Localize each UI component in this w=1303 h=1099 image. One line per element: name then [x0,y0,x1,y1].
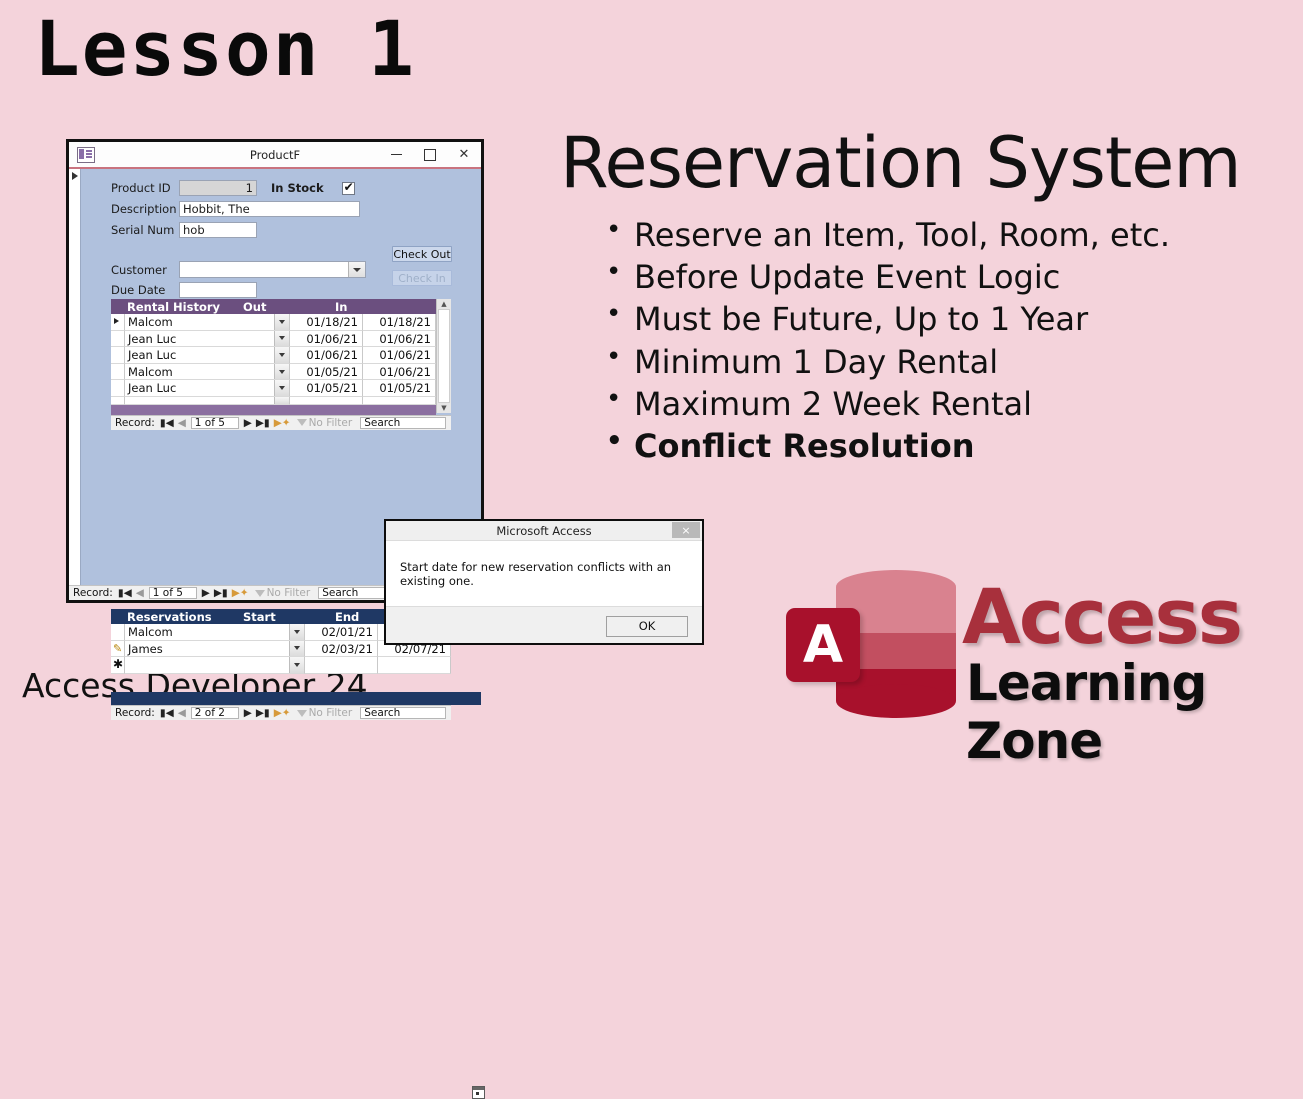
access-form-icon [77,147,95,163]
message-dialog: Microsoft Access × Start date for new re… [384,519,704,645]
reserver-name-cell [125,657,305,674]
start-date-cell[interactable]: 02/03/21 [305,641,378,658]
dialog-body: Start date for new reservation conflicts… [386,541,702,607]
dialog-title: Microsoft Access [496,524,591,538]
start-date-cell[interactable]: 02/01/21 [305,624,378,641]
list-item: Before Update Event Logic [606,256,1290,298]
minimize-icon[interactable] [379,142,413,167]
customer-label: Customer [111,263,179,277]
chevron-down-icon[interactable] [289,657,304,673]
row-selector[interactable] [111,624,125,641]
row-selector[interactable] [111,314,125,331]
serial-num-label: Serial Num [111,223,179,237]
out-date-cell[interactable]: 01/06/21 [290,347,363,364]
in-date-cell[interactable]: 01/06/21 [363,331,436,348]
scroll-down-icon[interactable]: ▼ [441,403,446,413]
access-learning-zone-logo: A Access Learning Zone [786,566,1286,726]
field-row-serial-num: Serial Num hob [111,222,257,238]
chevron-down-icon[interactable] [274,380,289,396]
field-row-due-date: Due Date [111,282,257,298]
cylinder-bottom [836,684,956,718]
out-date-cell[interactable]: 01/18/21 [290,314,363,331]
renter-name-cell: Malcom [125,364,290,381]
in-date-cell[interactable]: 01/06/21 [363,364,436,381]
nav-prev-icon[interactable]: ◀ [176,707,188,719]
start-date-cell[interactable] [305,657,378,674]
search-input[interactable]: Search [360,707,446,719]
filter-icon [255,590,265,597]
nav-first-icon[interactable]: ▮◀ [158,707,176,719]
table-row-partial[interactable] [111,397,436,405]
dialog-footer: OK [386,607,702,645]
chevron-down-icon[interactable] [289,624,304,640]
description-field[interactable]: Hobbit, The [179,201,360,217]
description-label: Description [111,202,179,216]
chevron-down-icon[interactable] [274,397,289,404]
renter-name-value: Jean Luc [125,380,274,396]
record-selector-bar[interactable] [69,169,81,600]
row-selector-editing[interactable]: ✎ [111,641,125,658]
list-item: Minimum 1 Day Rental [606,341,1290,383]
renter-name-cell [125,397,290,405]
list-item: Maximum 2 Week Rental [606,383,1290,425]
nav-record-label: Record: [69,587,116,599]
vertical-scrollbar[interactable]: ▲ ▼ [436,299,451,413]
rental-history-nav[interactable]: Record: ▮◀ ◀ 1 of 5 ▶ ▶▮ ▶✦ No Filter Se… [111,415,451,430]
dialog-message: Start date for new reservation conflicts… [386,560,702,588]
nav-first-icon[interactable]: ▮◀ [158,417,176,429]
nav-next-icon[interactable]: ▶ [242,707,254,719]
check-in-button: Check In [392,270,452,286]
chevron-down-icon[interactable] [348,262,365,277]
close-icon[interactable]: × [672,522,700,538]
content-column: Reservation System Reserve an Item, Tool… [560,128,1290,467]
filter-status[interactable]: No Filter [293,707,357,719]
current-record-arrow-icon [114,318,119,324]
filter-icon [297,710,307,717]
rental-history-header: Rental History Out In [111,299,436,314]
new-record-asterisk-icon: ✱ [113,657,123,671]
row-selector[interactable] [111,364,125,381]
nav-next-icon[interactable]: ▶ [200,587,212,599]
nav-record-label: Record: [111,417,158,429]
table-row[interactable]: Malcom 01/18/21 01/18/21 [111,314,436,331]
customer-value [180,262,348,277]
search-input[interactable]: Search [360,417,446,429]
column-header-in[interactable]: In [335,300,436,314]
reserver-name-value: James [125,641,289,657]
field-row-description: Description Hobbit, The [111,201,360,217]
renter-name-value [125,397,274,404]
rental-history-subform: Rental History Out In Malcom 01/18/21 01… [111,299,451,430]
dialog-title-bar: Microsoft Access × [386,521,702,541]
field-row-product-id: Product ID 1 In Stock [111,180,355,196]
filter-label: No Filter [309,707,353,719]
nav-new-record-icon[interactable]: ▶✦ [272,417,293,429]
filter-icon [297,419,307,426]
in-stock-checkbox[interactable] [342,182,355,195]
table-row[interactable]: Malcom 01/05/21 01/06/21 [111,364,436,381]
reserver-name-value: Malcom [125,624,289,640]
scrollbar-thumb[interactable] [438,309,450,403]
product-id-label: Product ID [111,181,179,195]
table-row[interactable]: Jean Luc 01/06/21 01/06/21 [111,331,436,348]
out-date-cell[interactable]: 01/06/21 [290,331,363,348]
renter-name-cell: Jean Luc [125,347,290,364]
renter-name-cell: Jean Luc [125,380,290,397]
chevron-down-icon[interactable] [274,364,289,380]
nav-new-record-icon[interactable]: ▶✦ [230,587,251,599]
due-date-field[interactable] [179,282,257,298]
reserver-name-cell: Malcom [125,624,305,641]
row-selector[interactable] [111,347,125,364]
row-selector[interactable] [111,397,125,405]
table-row-new[interactable]: ✱ [111,657,451,674]
reserver-name-cell: James [125,641,305,658]
access-a-tile-icon: A [786,608,860,682]
out-date-cell[interactable]: 01/05/21 [290,364,363,381]
in-date-cell[interactable]: 01/06/21 [363,347,436,364]
filter-label: No Filter [309,417,353,429]
main-heading: Reservation System [560,128,1290,198]
renter-name-value: Jean Luc [125,331,274,347]
window-controls: ✕ [379,142,481,167]
close-icon[interactable]: ✕ [447,142,481,167]
column-header-out[interactable]: Out [243,300,335,314]
chevron-down-icon[interactable] [274,314,289,330]
in-date-cell[interactable]: 01/05/21 [363,380,436,397]
renter-name-cell: Malcom [125,314,290,331]
maximize-icon[interactable] [413,142,447,167]
reservations-nav[interactable]: Record: ▮◀ ◀ 2 of 2 ▶ ▶▮ ▶✦ No Filter Se… [111,705,451,720]
field-row-customer: Customer [111,261,366,278]
column-header-reservations[interactable]: Reservations [111,610,243,624]
nav-first-icon[interactable]: ▮◀ [116,587,134,599]
chevron-down-icon[interactable] [274,347,289,363]
current-record-arrow-icon [72,172,78,180]
column-header-start[interactable]: Start [243,610,335,624]
feature-bullet-list: Reserve an Item, Tool, Room, etc. Before… [606,214,1290,467]
ok-button[interactable]: OK [606,616,688,637]
table-row[interactable]: Jean Luc 01/06/21 01/06/21 [111,347,436,364]
nav-position[interactable]: 1 of 5 [191,417,239,429]
page-title: Lesson 1 [34,4,416,93]
out-date-cell[interactable] [290,397,363,405]
nav-prev-icon[interactable]: ◀ [176,417,188,429]
cylinder-top [836,570,956,604]
renter-name-value: Malcom [125,314,274,330]
renter-name-value: Malcom [125,364,274,380]
filter-status[interactable]: No Filter [251,587,315,599]
nav-last-icon[interactable]: ▶▮ [212,587,230,599]
calendar-date-picker-icon[interactable] [472,1086,485,1099]
renter-name-value: Jean Luc [125,347,274,363]
in-date-cell[interactable] [363,397,436,405]
serial-num-field[interactable]: hob [179,222,257,238]
chevron-down-icon[interactable] [274,331,289,347]
in-date-cell[interactable]: 01/18/21 [363,314,436,331]
nav-position[interactable]: 2 of 2 [191,707,239,719]
subform-bottom-band [111,405,436,415]
nav-prev-icon[interactable]: ◀ [134,587,146,599]
table-row[interactable]: Jean Luc 01/05/21 01/05/21 [111,380,436,397]
filter-status[interactable]: No Filter [293,417,357,429]
list-item: Must be Future, Up to 1 Year [606,298,1290,340]
reservations-bottom-band [111,692,481,705]
in-stock-label: In Stock [271,181,324,195]
nav-next-icon[interactable]: ▶ [242,417,254,429]
nav-last-icon[interactable]: ▶▮ [254,417,272,429]
row-selector[interactable] [111,380,125,397]
logo-word-learning-zone: Learning Zone [966,654,1286,770]
due-date-label: Due Date [111,283,179,297]
reserver-name-value [125,657,289,673]
renter-name-cell: Jean Luc [125,331,290,348]
scroll-up-icon[interactable]: ▲ [441,299,446,309]
nav-new-record-icon[interactable]: ▶✦ [272,707,293,719]
product-id-field[interactable]: 1 [179,180,257,196]
nav-record-label: Record: [111,707,158,719]
filter-label: No Filter [267,587,311,599]
list-item: Reserve an Item, Tool, Room, etc. [606,214,1290,256]
end-date-cell[interactable] [378,657,451,674]
list-item: Conflict Resolution [606,425,1290,467]
pencil-edit-icon: ✎ [113,642,122,655]
chevron-down-icon[interactable] [289,641,304,657]
window-title-bar: ProductF ✕ [69,142,481,169]
check-out-button[interactable]: Check Out [392,246,452,262]
nav-last-icon[interactable]: ▶▮ [254,707,272,719]
row-selector-new[interactable]: ✱ [111,657,125,674]
customer-combobox[interactable] [179,261,366,278]
out-date-cell[interactable]: 01/05/21 [290,380,363,397]
row-selector[interactable] [111,331,125,348]
logo-word-access: Access [962,572,1241,661]
nav-position[interactable]: 1 of 5 [149,587,197,599]
column-header-rental-history[interactable]: Rental History [111,300,243,314]
